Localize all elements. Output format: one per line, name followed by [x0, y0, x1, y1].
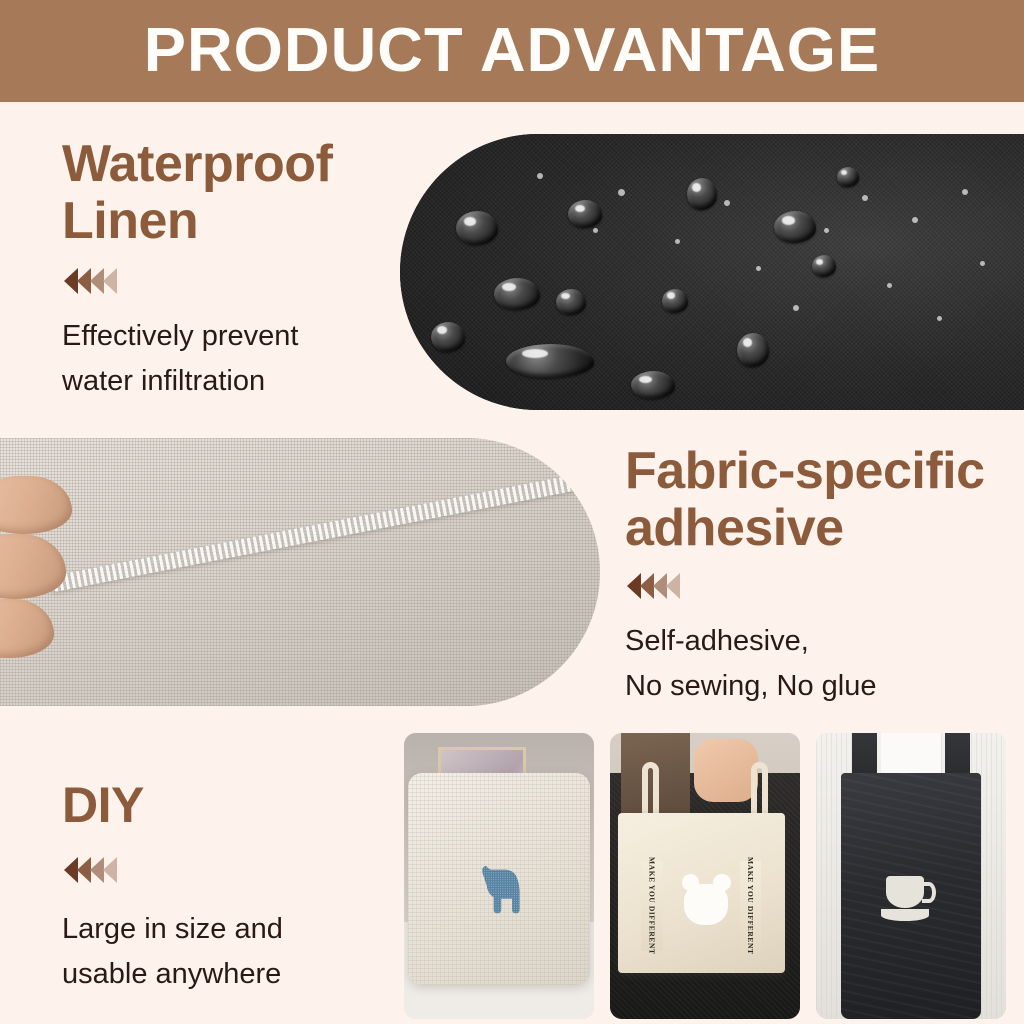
water-droplet — [687, 178, 717, 210]
chevron-4-icon — [666, 573, 680, 599]
water-droplet — [506, 344, 594, 378]
diy-gallery: MAKE YOU DIFFERENT MAKE YOU DIFFERENT — [404, 733, 1006, 1019]
chevron-2-icon — [77, 268, 91, 294]
apron-body — [841, 773, 982, 1019]
teacup-saucer — [881, 909, 930, 921]
product-advantage-infographic: PRODUCT ADVANTAGE Waterproof Linen Effec… — [0, 0, 1024, 1024]
bag-strap-text-left: MAKE YOU DIFFERENT — [647, 857, 656, 955]
chevron-3-icon — [653, 573, 667, 599]
water-mist — [537, 173, 543, 179]
teacup-silhouette-patch — [886, 876, 937, 920]
section-adhesive-body: Self-adhesive, No sewing, No glue — [625, 619, 1005, 709]
chevrons-left-icon — [64, 268, 392, 294]
body-line-1: Self-adhesive, — [625, 619, 1005, 664]
pillow-with-dog-patch-photo — [404, 733, 594, 1019]
section-adhesive-text: Fabric-specific adhesive Self-adhesive, … — [625, 443, 1005, 709]
hand-holding-linen-fabric-photo — [0, 438, 600, 706]
bear-silhouette-patch — [684, 884, 727, 926]
chevron-3-icon — [90, 857, 104, 883]
heading-line-2: adhesive — [625, 500, 1005, 557]
section-diy-text: DIY Large in size and usable anywhere — [62, 778, 382, 997]
dog-silhouette-patch — [463, 853, 540, 929]
body-line-1: Effectively prevent — [62, 314, 392, 359]
body-line-1: Large in size and — [62, 907, 382, 952]
water-mist — [887, 283, 892, 288]
water-mist — [937, 316, 942, 321]
section-waterproof-text: Waterproof Linen Effectively prevent wat… — [62, 136, 392, 404]
chevron-3-icon — [90, 268, 104, 294]
bag-strap-text-right: MAKE YOU DIFFERENT — [746, 857, 755, 955]
bag-strap-right: MAKE YOU DIFFERENT — [740, 861, 762, 951]
heading-line-1: Waterproof — [62, 136, 392, 193]
heading-line-1: Fabric-specific — [625, 443, 1005, 500]
shirt-collar — [881, 733, 942, 779]
chevron-4-icon — [103, 857, 117, 883]
chevron-1-icon — [64, 857, 78, 883]
chevrons-left-icon — [64, 857, 382, 883]
page-title: PRODUCT ADVANTAGE — [144, 20, 880, 82]
water-mist — [675, 239, 680, 244]
water-mist — [962, 189, 968, 195]
water-droplet — [837, 167, 859, 187]
chevron-2-icon — [640, 573, 654, 599]
water-droplet — [737, 333, 769, 367]
section-diy-heading: DIY — [62, 778, 382, 833]
chevron-4-icon — [103, 268, 117, 294]
chevrons-left-icon — [627, 573, 1005, 599]
banner-header: PRODUCT ADVANTAGE — [0, 0, 1024, 102]
section-waterproof-heading: Waterproof Linen — [62, 136, 392, 250]
black-apron-with-teacup-patch-photo — [816, 733, 1006, 1019]
body-line-2: water infiltration — [62, 359, 392, 404]
bag-strap-left: MAKE YOU DIFFERENT — [641, 861, 663, 951]
section-adhesive-heading: Fabric-specific adhesive — [625, 443, 1005, 557]
water-droplet — [494, 278, 540, 310]
teacup-handle — [922, 882, 936, 903]
water-mist — [862, 195, 868, 201]
heading-line-1: DIY — [62, 778, 382, 833]
teacup-body — [886, 876, 924, 908]
fabric-weave-texture — [400, 134, 1024, 410]
water-droplet — [431, 322, 465, 352]
chevron-1-icon — [627, 573, 641, 599]
water-droplets-on-black-fabric-photo — [400, 134, 1024, 410]
heading-line-2: Linen — [62, 193, 392, 250]
section-diy-body: Large in size and usable anywhere — [62, 907, 382, 997]
body-line-2: No sewing, No glue — [625, 664, 1005, 709]
canvas-tote-bag: MAKE YOU DIFFERENT MAKE YOU DIFFERENT — [618, 813, 785, 973]
water-mist — [912, 217, 918, 223]
linen-pillow — [408, 773, 590, 985]
water-droplet — [662, 289, 688, 313]
section-waterproof-body: Effectively prevent water infiltration — [62, 314, 392, 404]
chevron-1-icon — [64, 268, 78, 294]
water-droplet — [556, 289, 586, 315]
body-line-2: usable anywhere — [62, 952, 382, 997]
tote-bag-with-bear-patch-photo: MAKE YOU DIFFERENT MAKE YOU DIFFERENT — [610, 733, 800, 1019]
chevron-2-icon — [77, 857, 91, 883]
hand — [694, 739, 759, 802]
